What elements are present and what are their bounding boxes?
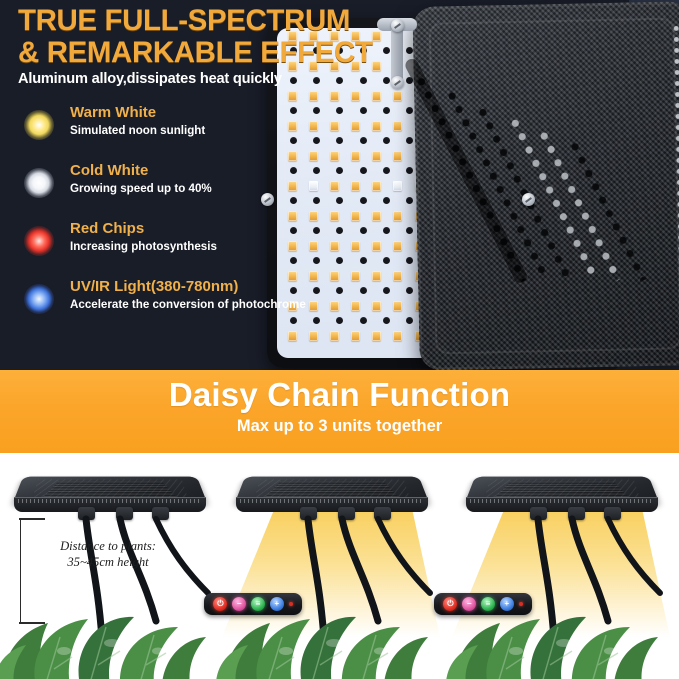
status-led-icon bbox=[289, 602, 293, 606]
led-chip bbox=[288, 91, 297, 101]
distance-dimension-line bbox=[20, 518, 37, 624]
warm-white-dot bbox=[24, 110, 54, 140]
led-chip bbox=[330, 211, 339, 221]
grow-light-unit-2: ⏻−≡+ bbox=[216, 453, 448, 679]
daisy-chain-banner: Daisy Chain Function Max up to 3 units t… bbox=[0, 370, 679, 453]
led-chip bbox=[330, 241, 339, 251]
led-hole bbox=[406, 197, 413, 204]
led-hole bbox=[360, 107, 367, 114]
grow-light-unit-1: Distance to plants:35~45cm height bbox=[0, 453, 226, 679]
led-chip bbox=[393, 301, 402, 311]
led-chip bbox=[393, 331, 402, 341]
led-chip bbox=[309, 91, 318, 101]
led-hole bbox=[360, 77, 367, 84]
distance-note: Distance to plants:35~45cm height bbox=[38, 538, 178, 570]
led-chip bbox=[393, 211, 402, 221]
led-chip bbox=[372, 331, 381, 341]
timer-button[interactable]: ≡ bbox=[481, 597, 495, 611]
led-chip bbox=[330, 301, 339, 311]
led-chip bbox=[330, 121, 339, 131]
screw-icon bbox=[522, 193, 535, 206]
led-hole bbox=[383, 287, 390, 294]
led-chip bbox=[372, 271, 381, 281]
led-chip bbox=[330, 181, 339, 191]
led-hole bbox=[290, 77, 297, 84]
inline-controller[interactable]: ⏻−≡+ bbox=[434, 593, 532, 615]
led-chip bbox=[330, 271, 339, 281]
led-hole bbox=[360, 167, 367, 174]
led-hole bbox=[313, 77, 320, 84]
led-chip bbox=[351, 181, 360, 191]
distance-note-line-2: 35~45cm height bbox=[67, 555, 148, 569]
led-chip bbox=[393, 91, 402, 101]
led-chip bbox=[393, 241, 402, 251]
led-hole bbox=[360, 287, 367, 294]
led-hole bbox=[383, 137, 390, 144]
led-hole bbox=[336, 257, 343, 264]
feature-desc: Growing speed up to 40% bbox=[70, 182, 212, 195]
feature-item-uv-ir: UV/IR Light(380-780nm)Accelerate the con… bbox=[16, 278, 316, 336]
led-chip bbox=[351, 331, 360, 341]
monstera-plant bbox=[216, 565, 431, 679]
feature-title: UV/IR Light(380-780nm) bbox=[70, 278, 238, 295]
inline-controller[interactable]: ⏻−≡+ bbox=[204, 593, 302, 615]
led-chip bbox=[351, 241, 360, 251]
led-chip bbox=[372, 91, 381, 101]
feature-item-cold-white: Cold WhiteGrowing speed up to 40% bbox=[16, 162, 316, 220]
screw-icon bbox=[391, 19, 404, 32]
top-section: TRUE FULL-SPECTRUM & REMARKABLE EFFECT A… bbox=[0, 0, 679, 372]
led-chip bbox=[351, 271, 360, 281]
led-hole bbox=[360, 227, 367, 234]
power-button[interactable]: ⏻ bbox=[213, 597, 227, 611]
bottom-section: Distance to plants:35~45cm height⏻−≡+⏻−≡… bbox=[0, 453, 679, 679]
led-chip bbox=[372, 301, 381, 311]
feature-desc: Accelerate the conversion of photochrome bbox=[70, 298, 306, 311]
screw-icon bbox=[261, 193, 274, 206]
led-hole bbox=[383, 167, 390, 174]
led-hole bbox=[406, 257, 413, 264]
monstera-plant bbox=[446, 565, 661, 679]
led-hole bbox=[360, 317, 367, 324]
led-chip bbox=[351, 121, 360, 131]
led-chip bbox=[372, 181, 381, 191]
headline-line-2: & REMARKABLE EFFECT bbox=[18, 38, 488, 68]
banner-title: Daisy Chain Function bbox=[0, 370, 679, 414]
led-hole bbox=[360, 257, 367, 264]
led-hole bbox=[336, 287, 343, 294]
power-button[interactable]: ⏻ bbox=[443, 597, 457, 611]
led-chip bbox=[393, 271, 402, 281]
headline-line-1: TRUE FULL-SPECTRUM bbox=[18, 6, 488, 36]
led-chip bbox=[351, 211, 360, 221]
led-hole bbox=[406, 287, 413, 294]
feature-item-red-chip: Red ChipsIncreasing photosynthesis bbox=[16, 220, 316, 278]
led-chip bbox=[330, 91, 339, 101]
led-hole bbox=[336, 137, 343, 144]
subtitle: Aluminum alloy,dissipates heat quickly bbox=[18, 71, 282, 87]
feature-desc: Increasing photosynthesis bbox=[70, 240, 217, 253]
led-chip bbox=[393, 181, 402, 191]
feature-title: Red Chips bbox=[70, 220, 144, 237]
led-hole bbox=[383, 257, 390, 264]
page-title: TRUE FULL-SPECTRUM & REMARKABLE EFFECT bbox=[18, 6, 488, 68]
led-hole bbox=[360, 137, 367, 144]
led-hole bbox=[383, 197, 390, 204]
red-chip-dot bbox=[24, 226, 54, 256]
led-hole bbox=[383, 107, 390, 114]
led-hole bbox=[336, 197, 343, 204]
led-hole bbox=[383, 317, 390, 324]
led-chip bbox=[351, 301, 360, 311]
mounting-bracket-icon bbox=[377, 18, 417, 90]
led-chip bbox=[330, 151, 339, 161]
led-hole bbox=[336, 167, 343, 174]
cold-white-dot bbox=[24, 168, 54, 198]
minus-button[interactable]: − bbox=[232, 597, 246, 611]
led-chip bbox=[351, 91, 360, 101]
led-chip bbox=[372, 151, 381, 161]
led-hole bbox=[406, 137, 413, 144]
led-hole bbox=[360, 197, 367, 204]
led-chip bbox=[372, 211, 381, 221]
plus-button[interactable]: + bbox=[500, 597, 514, 611]
product-infographic: TRUE FULL-SPECTRUM & REMARKABLE EFFECT A… bbox=[0, 0, 679, 679]
feature-title: Warm White bbox=[70, 104, 156, 121]
led-hole bbox=[406, 317, 413, 324]
led-hole bbox=[336, 77, 343, 84]
led-chip bbox=[372, 241, 381, 251]
distance-note-line-1: Distance to plants: bbox=[60, 539, 156, 553]
status-led-icon bbox=[519, 602, 523, 606]
minus-button[interactable]: − bbox=[462, 597, 476, 611]
led-chip bbox=[372, 121, 381, 131]
led-chip bbox=[393, 151, 402, 161]
led-hole bbox=[336, 107, 343, 114]
grow-light-unit-3: ⏻−≡+ bbox=[446, 453, 678, 679]
led-hole bbox=[336, 227, 343, 234]
led-hole bbox=[336, 317, 343, 324]
feature-title: Cold White bbox=[70, 162, 148, 179]
led-chip bbox=[393, 121, 402, 131]
led-hole bbox=[406, 107, 413, 114]
led-hole bbox=[406, 227, 413, 234]
feature-item-warm-white: Warm WhiteSimulated noon sunlight bbox=[16, 104, 316, 162]
uv-ir-dot bbox=[24, 284, 54, 314]
timer-button[interactable]: ≡ bbox=[251, 597, 265, 611]
led-hole bbox=[383, 227, 390, 234]
feature-desc: Simulated noon sunlight bbox=[70, 124, 205, 137]
plus-button[interactable]: + bbox=[270, 597, 284, 611]
screw-icon bbox=[391, 76, 404, 89]
led-chip bbox=[351, 151, 360, 161]
feature-list: Warm WhiteSimulated noon sunlightCold Wh… bbox=[16, 104, 316, 336]
banner-subtitle: Max up to 3 units together bbox=[0, 414, 679, 436]
led-chip bbox=[330, 331, 339, 341]
led-hole bbox=[406, 167, 413, 174]
